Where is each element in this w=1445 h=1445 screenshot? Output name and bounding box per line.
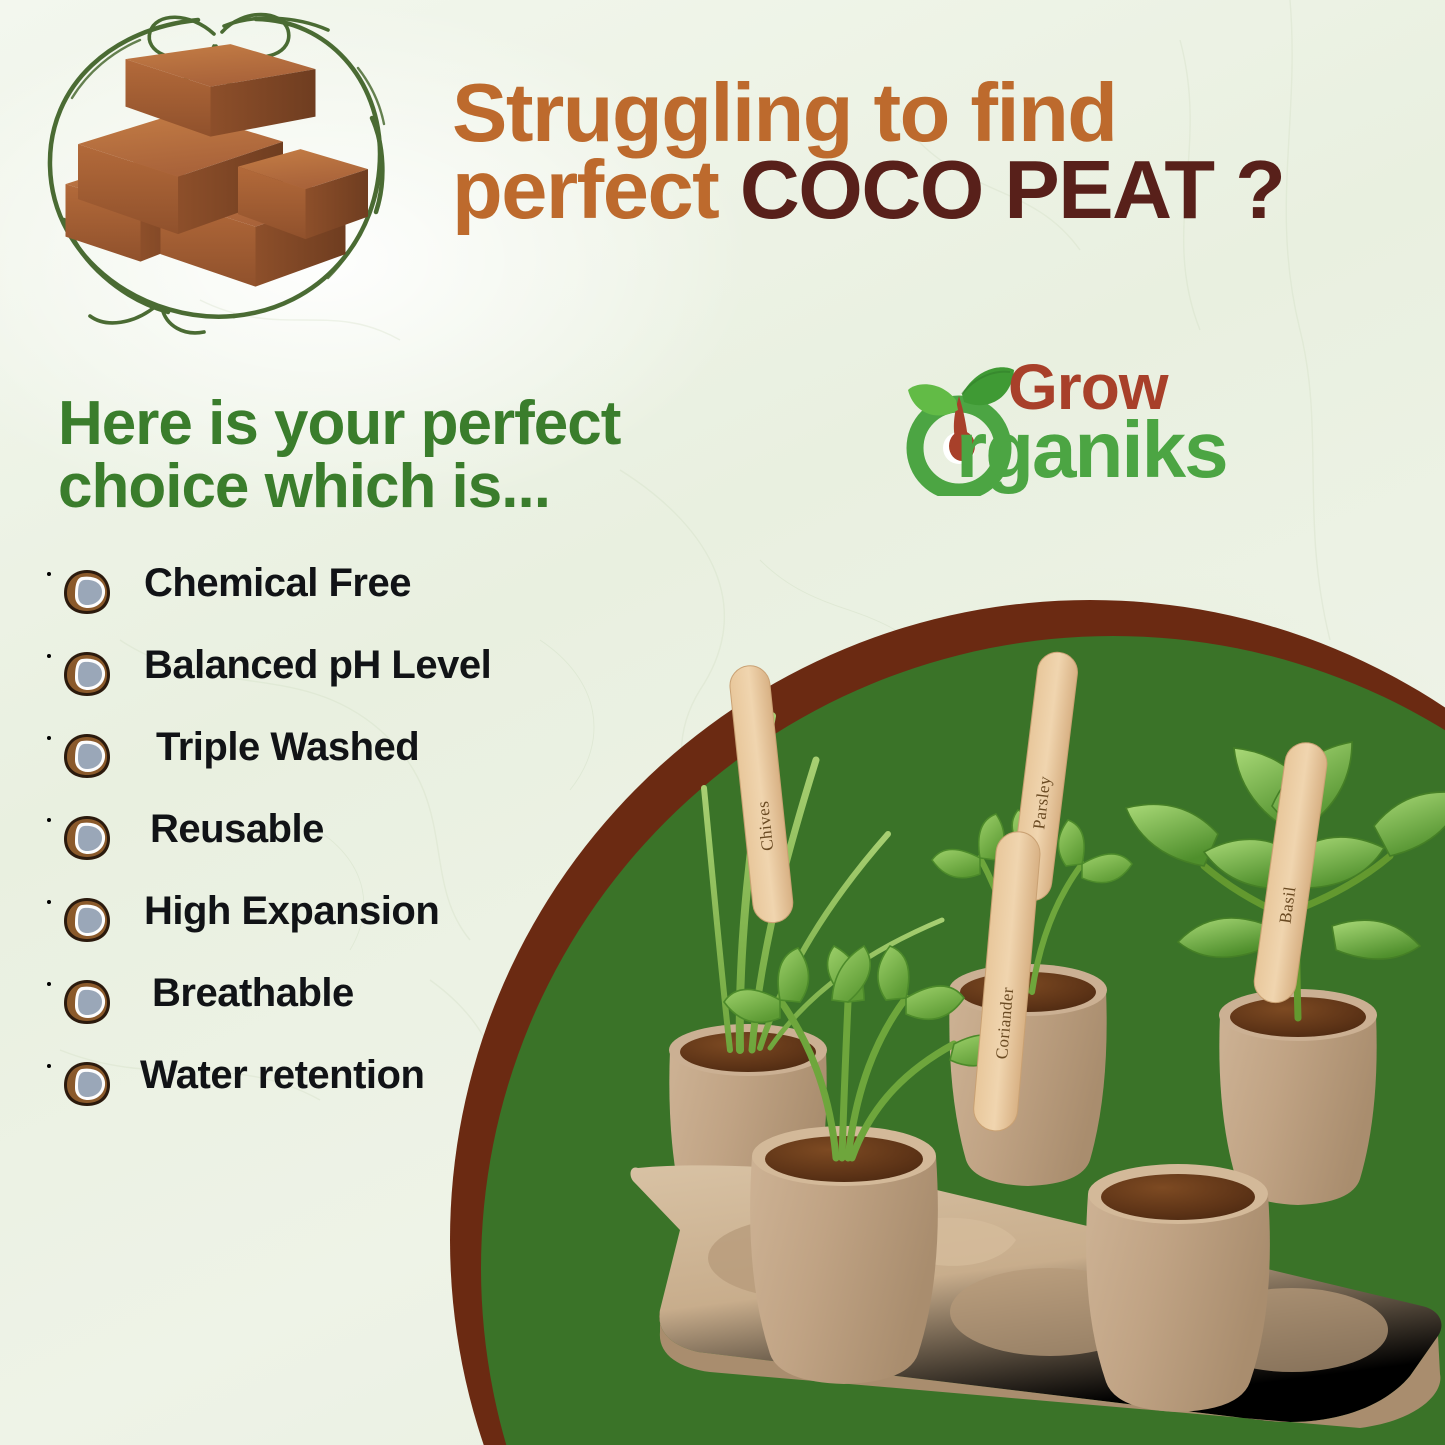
subheading-line-1: Here is your perfect [58,392,818,455]
feature-list: Chemical Free Balanced pH Level Triple W… [62,565,622,1139]
coco-peat-badge [28,6,403,336]
headline-line-2-orange: perfect [452,143,740,236]
coconut-icon [62,813,112,863]
list-item-label: Triple Washed [156,725,419,770]
brand-logo[interactable]: Grow rganiks [900,352,1290,500]
headline-line-2-dark: COCO PEAT ? [740,143,1285,236]
coconut-icon [62,649,112,699]
subheading: Here is your perfect choice which is... [58,392,818,518]
poster-canvas: Chives Parsley Coriander Basil [0,0,1445,1445]
list-item-label: Chemical Free [144,561,411,606]
coco-peat-bricks-icon [28,6,403,336]
logo-word-organiks: rganiks [956,404,1227,496]
list-item: Water retention [62,1057,622,1139]
list-item-label: Water retention [140,1053,424,1098]
list-item: Breathable [62,975,622,1057]
list-item: Balanced pH Level [62,647,622,729]
subheading-line-2: choice which is... [58,455,818,518]
coconut-icon [62,1059,112,1109]
list-item-label: High Expansion [144,889,439,934]
list-item: Chemical Free [62,565,622,647]
headline-line-2: perfect COCO PEAT ? [452,151,1412,230]
coconut-icon [62,895,112,945]
list-item: Reusable [62,811,622,893]
coconut-icon [62,731,112,781]
coconut-icon [62,977,112,1027]
coconut-icon [62,567,112,617]
list-item: Triple Washed [62,729,622,811]
plant-label-chives: Chives [728,664,795,925]
list-item-label: Reusable [150,807,324,852]
product-photo: Chives Parsley Coriander Basil [620,620,1445,1445]
headline: Struggling to find perfect COCO PEAT ? [452,74,1412,230]
list-item: High Expansion [62,893,622,975]
list-item-label: Balanced pH Level [144,643,491,688]
list-item-label: Breathable [152,971,354,1016]
headline-line-1: Struggling to find [452,74,1412,153]
pot-front-right [1086,1164,1270,1412]
pot-front-left [750,1126,938,1384]
